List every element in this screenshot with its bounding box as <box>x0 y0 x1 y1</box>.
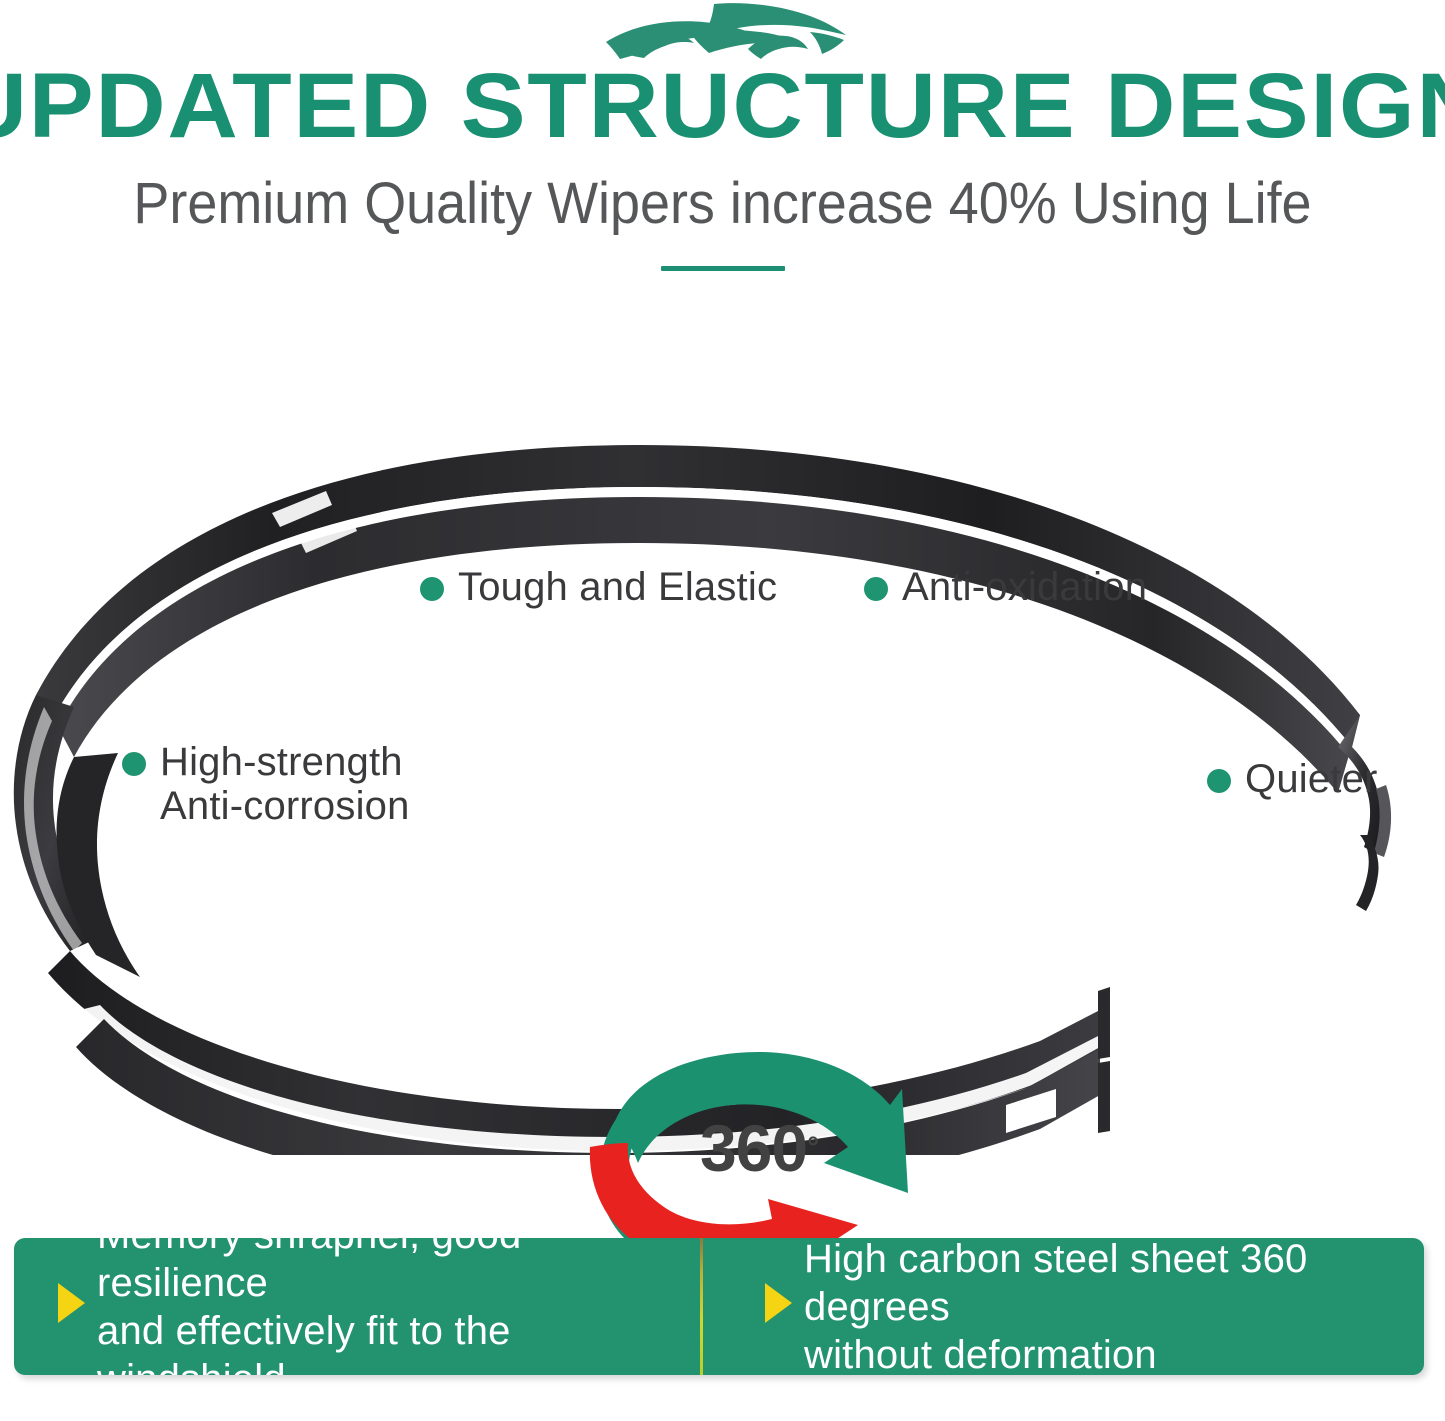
feature-callout-high-strength-anti-corrosion: High-strength Anti-corrosion <box>122 740 410 828</box>
feature-label: Tough and Elastic <box>458 565 777 609</box>
bullet-dot-icon <box>122 752 146 776</box>
badge-360: 360° <box>572 1043 928 1259</box>
play-triangle-icon <box>58 1283 85 1323</box>
banner-item-memory-shrapnel: Memory shrapnel, good resilience and eff… <box>14 1238 719 1375</box>
feature-label: High-strength Anti-corrosion <box>160 740 410 828</box>
banner-item-high-carbon-steel: High carbon steel sheet 360 degrees with… <box>719 1238 1424 1375</box>
car-silhouette-icon <box>596 2 848 60</box>
page-title: UPDATED STRUCTURE DESIGN <box>0 58 1445 154</box>
feature-callout-quieter: Quieter <box>1207 757 1378 801</box>
bullet-dot-icon <box>864 577 888 601</box>
banner-item-text: High carbon steel sheet 360 degrees with… <box>804 1238 1402 1375</box>
feature-label: Anti-oxidation <box>902 565 1147 609</box>
banner-item-text: Memory shrapnel, good resilience and eff… <box>97 1238 697 1375</box>
feature-label: Quieter <box>1245 757 1378 801</box>
feature-callout-anti-oxidation: Anti-oxidation <box>864 565 1147 609</box>
page-subtitle: Premium Quality Wipers increase 40% Usin… <box>51 173 1395 235</box>
product-stage: 360° Tough and Elastic Anti-oxidation Hi… <box>0 395 1445 1155</box>
banner-divider <box>700 1238 703 1375</box>
bullet-dot-icon <box>1207 769 1231 793</box>
feature-banner: Memory shrapnel, good resilience and eff… <box>14 1238 1424 1375</box>
bullet-dot-icon <box>420 577 444 601</box>
title-divider <box>661 266 785 271</box>
play-triangle-icon <box>765 1283 792 1323</box>
feature-callout-tough-and-elastic: Tough and Elastic <box>420 565 777 609</box>
